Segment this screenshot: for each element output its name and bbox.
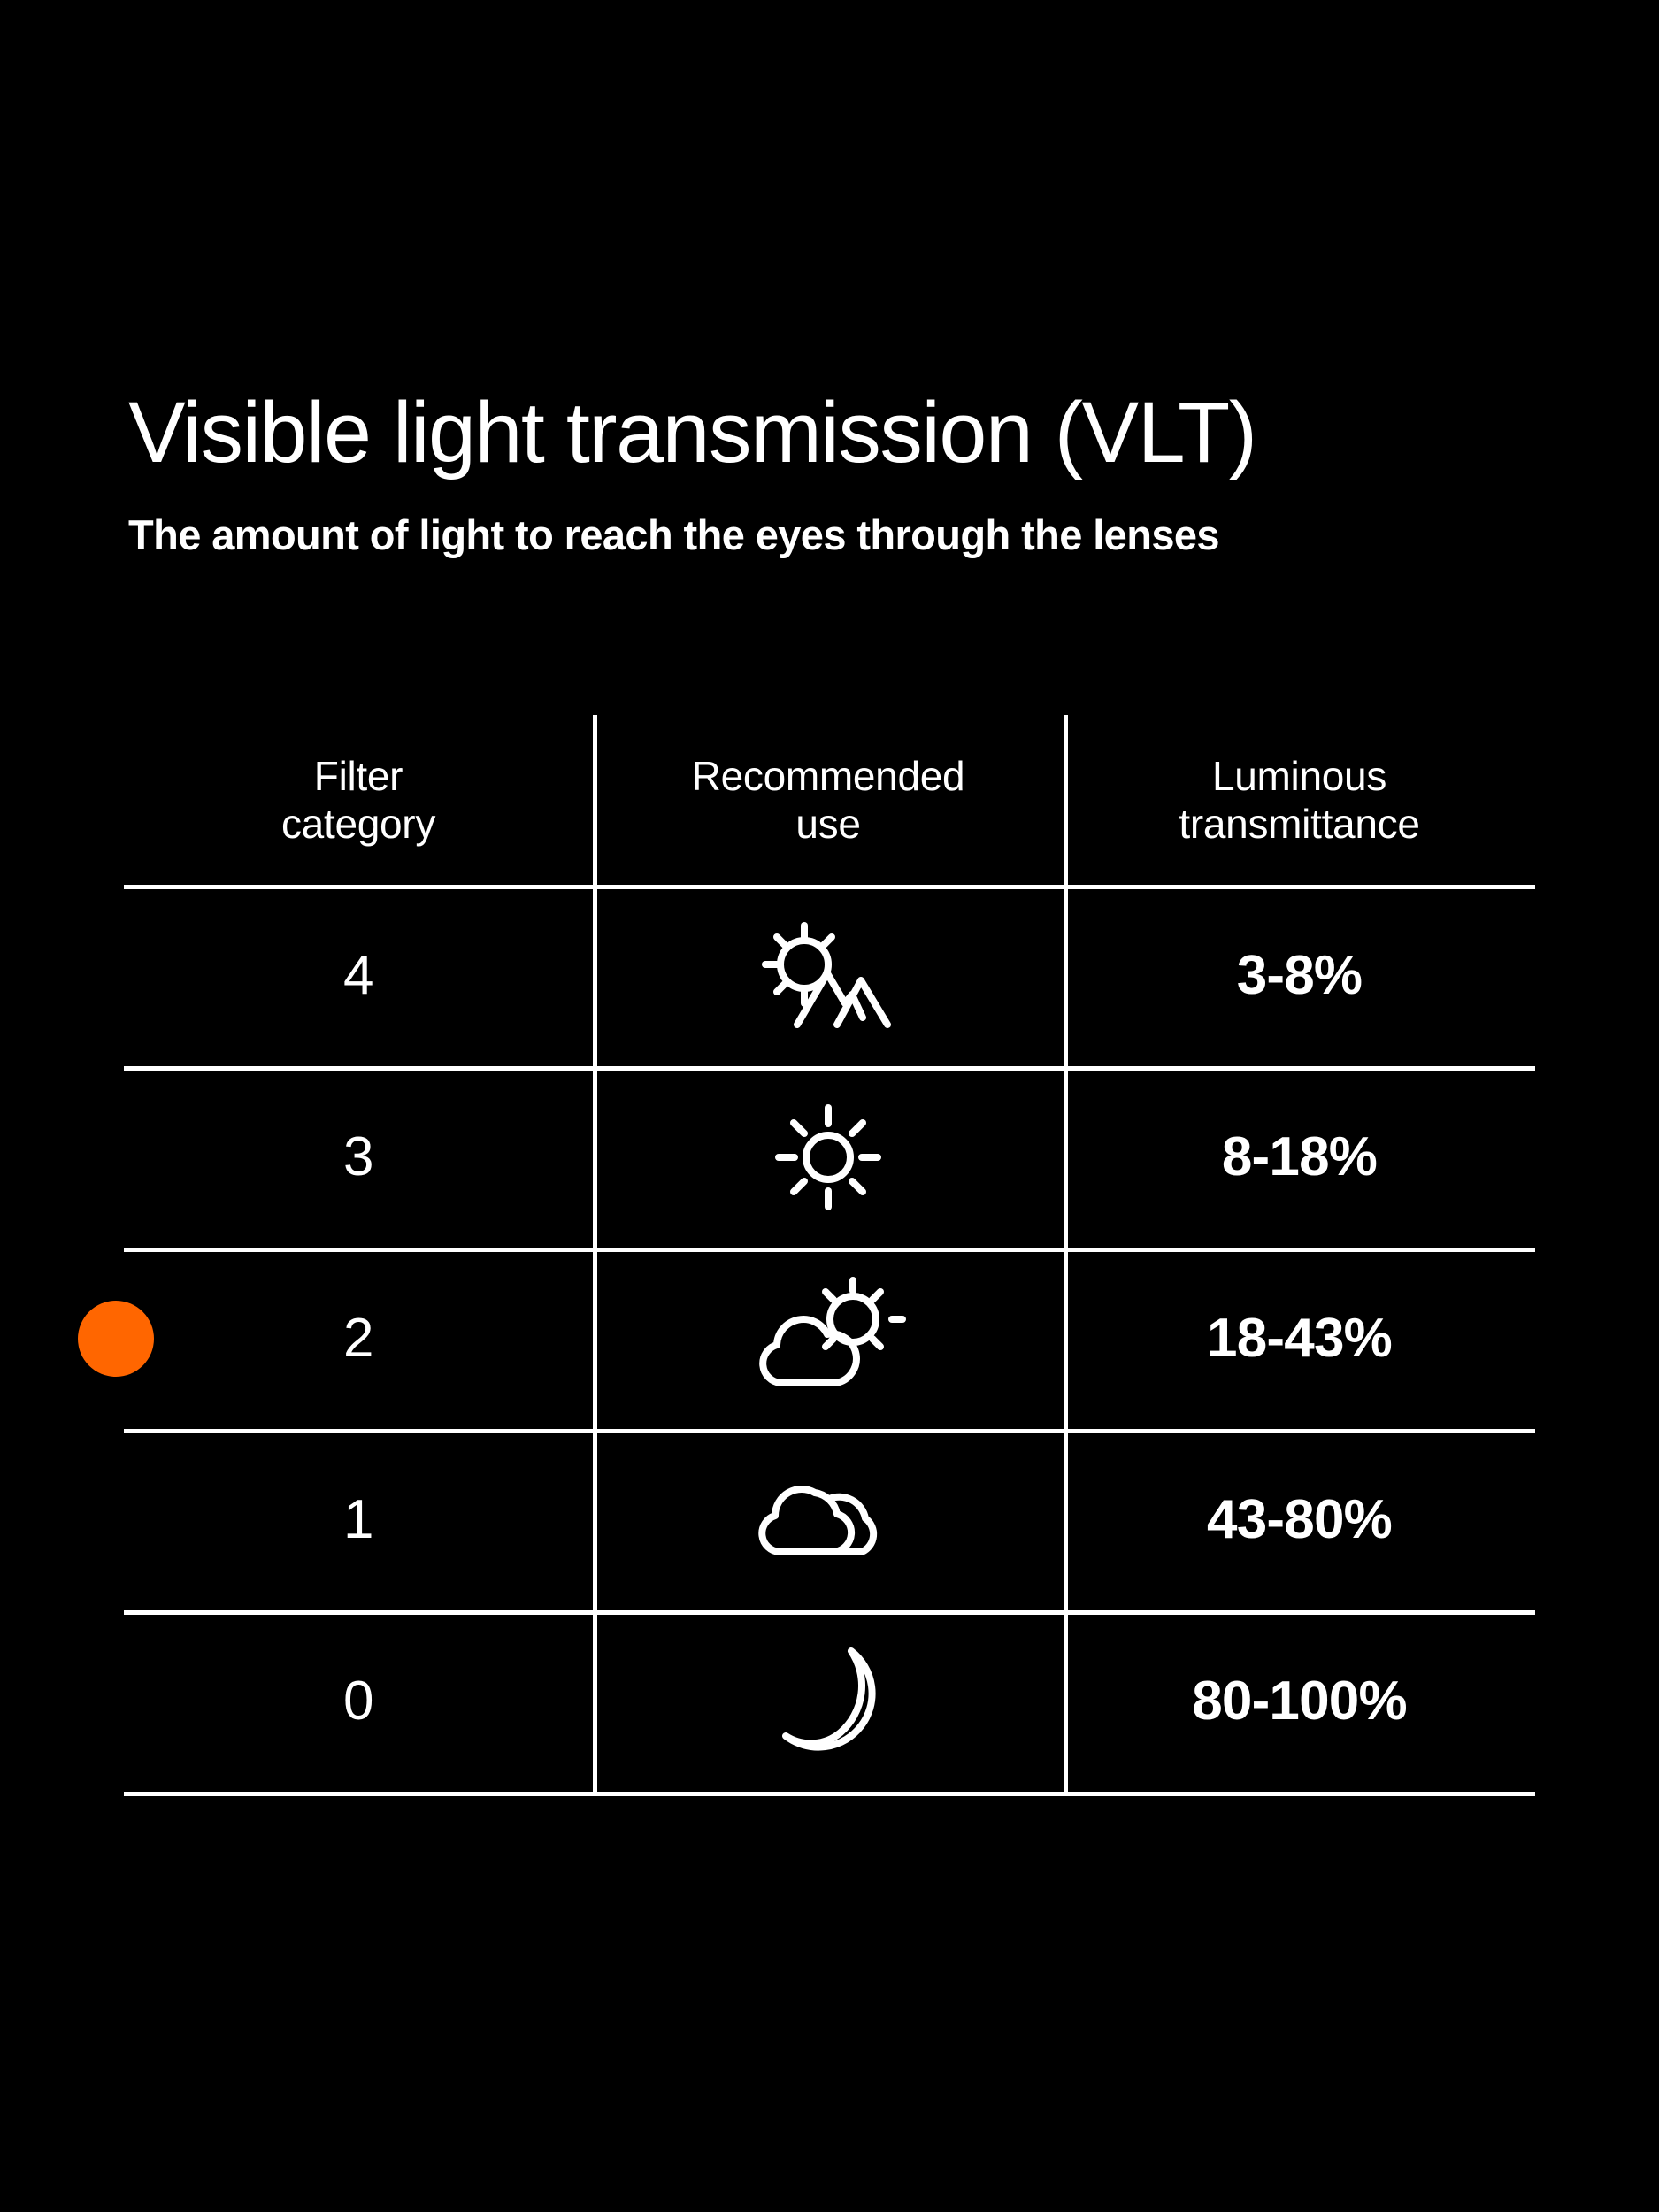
cell-luminous-transmittance: 80-100% (1064, 1610, 1535, 1792)
filter-category-value: 2 (343, 1307, 373, 1370)
moon-icon (775, 1644, 881, 1759)
cell-filter-category: 2 (124, 1248, 593, 1429)
cell-luminous-transmittance: 43-80% (1064, 1429, 1535, 1610)
table-row[interactable]: 3 8-18% (124, 1066, 1535, 1248)
cell-recommended-use (593, 885, 1064, 1066)
filter-category-value: 0 (343, 1670, 373, 1732)
luminous-transmittance-value: 3-8% (1237, 944, 1363, 1007)
filter-category-value: 4 (343, 944, 373, 1007)
cell-recommended-use (593, 1248, 1064, 1429)
page-title: Visible light transmission (VLT) (128, 389, 1562, 475)
header-label-recommended-use: Recommended use (692, 752, 965, 849)
header-block: Visible light transmission (VLT) The amo… (128, 389, 1562, 556)
vlt-table: Filter category Recommended use Luminous… (124, 715, 1535, 1796)
filter-category-value: 1 (343, 1488, 373, 1551)
header-cell-recommended-use: Recommended use (593, 715, 1064, 885)
luminous-transmittance-value: 8-18% (1222, 1125, 1377, 1188)
luminous-transmittance-value: 80-100% (1192, 1670, 1407, 1732)
cell-filter-category: 3 (124, 1066, 593, 1248)
highlight-dot-icon (78, 1301, 154, 1377)
cell-filter-category: 1 (124, 1429, 593, 1610)
table-header-row: Filter category Recommended use Luminous… (124, 715, 1535, 885)
luminous-transmittance-value: 43-80% (1207, 1488, 1392, 1551)
cloudy-icon (753, 1471, 903, 1569)
page-subtitle: The amount of light to reach the eyes th… (128, 475, 1562, 556)
cell-luminous-transmittance: 3-8% (1064, 885, 1535, 1066)
cell-recommended-use (593, 1429, 1064, 1610)
cell-filter-category: 0 (124, 1610, 593, 1792)
sun-icon (772, 1101, 885, 1214)
header-label-luminous-transmittance: Luminous transmittance (1179, 752, 1419, 849)
table-row[interactable]: 0 80-100% (124, 1610, 1535, 1792)
header-label-filter-category: Filter category (281, 752, 435, 849)
table-row[interactable]: 2 18-43% (124, 1248, 1535, 1429)
cell-filter-category: 4 (124, 885, 593, 1066)
table-row[interactable]: 4 3-8% (124, 885, 1535, 1066)
table-row[interactable]: 1 43-80% (124, 1429, 1535, 1610)
partly-cloudy-icon (751, 1277, 906, 1401)
sun-over-mountains-icon (753, 918, 903, 1033)
header-cell-filter-category: Filter category (124, 715, 593, 885)
cell-luminous-transmittance: 18-43% (1064, 1248, 1535, 1429)
header-cell-luminous-transmittance: Luminous transmittance (1064, 715, 1535, 885)
cell-luminous-transmittance: 8-18% (1064, 1066, 1535, 1248)
row-rule-bottom (124, 1792, 1535, 1796)
cell-recommended-use (593, 1610, 1064, 1792)
luminous-transmittance-value: 18-43% (1207, 1307, 1392, 1370)
filter-category-value: 3 (343, 1125, 373, 1188)
cell-recommended-use (593, 1066, 1064, 1248)
